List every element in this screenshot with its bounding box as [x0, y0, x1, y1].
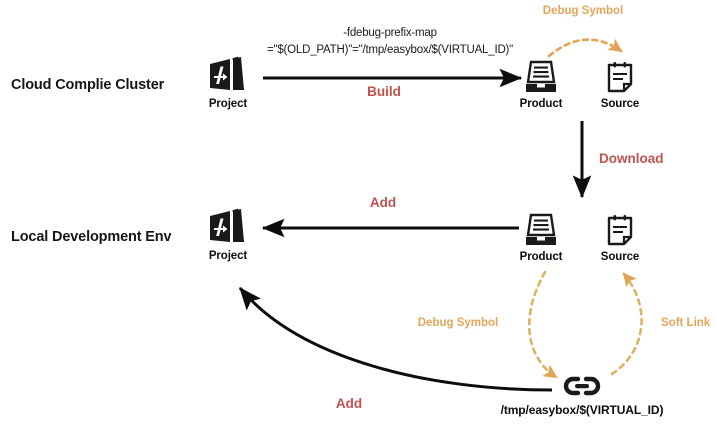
edge-label-build: Build	[367, 84, 401, 99]
node-cloud-project[interactable]: Project	[183, 50, 273, 110]
notepad-icon	[575, 203, 665, 247]
notepad-icon	[575, 50, 665, 94]
node-local-source[interactable]: Source	[575, 203, 665, 263]
chain-link-icon	[472, 372, 692, 398]
node-caption: /tmp/easybox/$(VIRTUAL_ID)	[472, 403, 692, 417]
node-caption: Source	[575, 98, 665, 110]
build-flag-line-1: -fdebug-prefix-map	[267, 25, 513, 42]
diagram-canvas: Cloud Complie Cluster Local Development …	[0, 0, 717, 432]
build-flag-line-2: ="$(OLD_PATH)"="/tmp/easybox/$(VIRTUAL_I…	[267, 42, 513, 59]
project-icon	[183, 50, 273, 94]
edge-label-soft-link: Soft Link	[661, 317, 710, 329]
project-icon	[183, 202, 273, 246]
node-caption: Source	[575, 251, 665, 263]
lane-label-cloud: Cloud Complie Cluster	[11, 77, 164, 93]
node-local-product[interactable]: Product	[496, 203, 586, 263]
edge-label-cloud-debug-symbol: Debug Symbol	[543, 5, 624, 17]
node-caption: Project	[183, 250, 273, 262]
node-cloud-product[interactable]: Product	[496, 50, 586, 110]
edge-label-local-debug-symbol: Debug Symbol	[418, 317, 499, 329]
node-caption: Product	[496, 98, 586, 110]
lane-label-local: Local Development Env	[11, 229, 171, 245]
edge-label-download: Download	[599, 151, 664, 166]
node-symlink[interactable]: /tmp/easybox/$(VIRTUAL_ID)	[472, 372, 692, 417]
inbox-tray-icon	[496, 203, 586, 247]
node-caption: Product	[496, 251, 586, 263]
edge-local-debug-symbol-arc	[529, 272, 556, 377]
node-cloud-source[interactable]: Source	[575, 50, 665, 110]
edge-label-link-add: Add	[336, 396, 362, 411]
node-caption: Project	[183, 98, 273, 110]
edge-label-local-add: Add	[370, 195, 396, 210]
node-local-project[interactable]: Project	[183, 202, 273, 262]
edge-soft-link-arc	[612, 274, 642, 374]
build-flag-label: -fdebug-prefix-map ="$(OLD_PATH)"="/tmp/…	[267, 25, 513, 58]
